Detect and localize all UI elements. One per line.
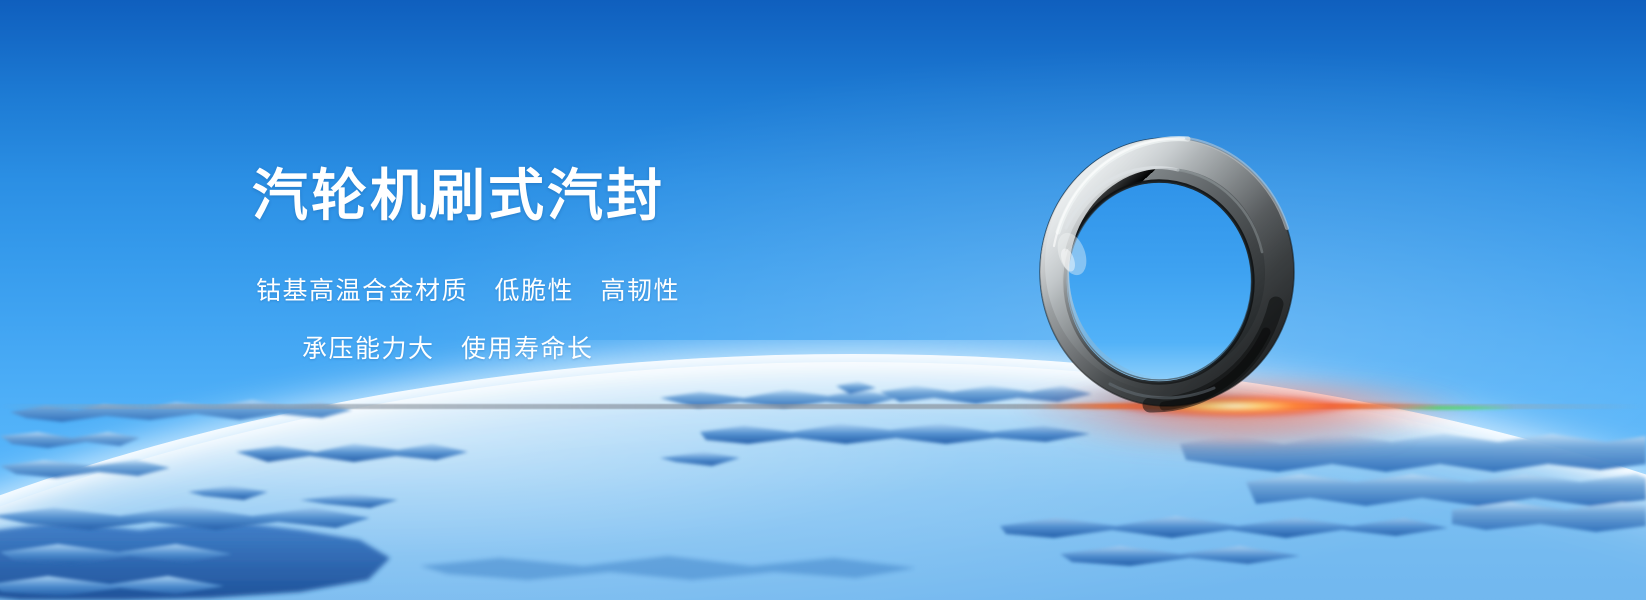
product-banner: 汽轮机刷式汽封 钴基高温合金材质 低脆性 高韧性 承压能力大 使用寿命长 [0, 0, 1646, 600]
globe-graphic [0, 340, 1646, 600]
globe-sphere [0, 362, 1646, 600]
banner-headline: 汽轮机刷式汽封 [252, 168, 892, 227]
banner-subtitle-line-1: 钴基高温合金材质 低脆性 高韧性 [252, 271, 892, 307]
banner-subtitle-line-2: 承压能力大 使用寿命长 [252, 329, 892, 365]
banner-copy: 汽轮机刷式汽封 钴基高温合金材质 低脆性 高韧性 承压能力大 使用寿命长 [252, 168, 892, 365]
